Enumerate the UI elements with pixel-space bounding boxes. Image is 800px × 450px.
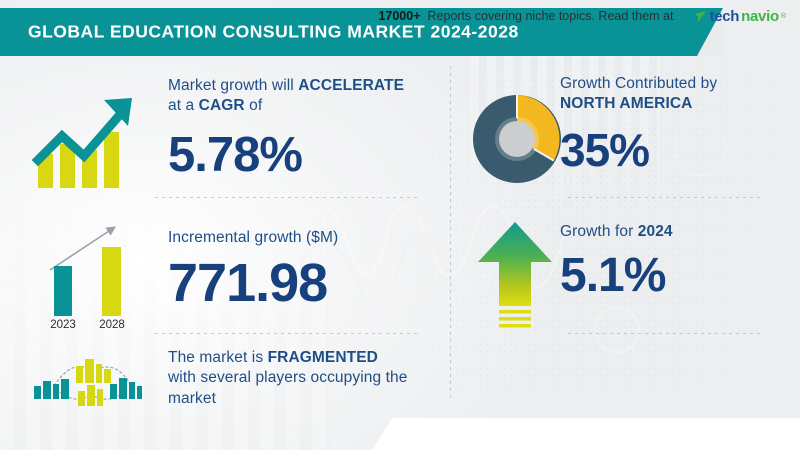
footer-text: Reports covering niche topics. Read them… [428, 9, 674, 23]
market-cluster-icon [30, 352, 144, 410]
infographic-canvas: GLOBAL EDUCATION CONSULTING MARKET 2024-… [0, 0, 800, 450]
growth-2024-caption-prefix: Growth for [560, 223, 638, 240]
cagr-caption-bold: ACCELERATE [298, 77, 404, 94]
cagr-caption-line2-prefix: at a [168, 97, 199, 114]
fragmentation-caption: The market is FRAGMENTED with several pl… [168, 348, 436, 409]
logo-text-tech: tech [709, 8, 739, 25]
growth-2024-caption: Growth for 2024 [560, 222, 795, 242]
bar-label-2023: 2023 [50, 319, 76, 330]
technavio-triangle-icon [694, 10, 707, 23]
incremental-growth-value: 771.98 [168, 256, 438, 310]
cagr-value: 5.78% [168, 131, 430, 180]
vertical-divider [450, 66, 451, 402]
incremental-growth-caption: Incremental growth ($M) [168, 228, 438, 248]
fragmentation-caption-prefix: The market is [168, 349, 268, 366]
growth-chart-icon [32, 92, 140, 192]
logo-trademark: ® [781, 13, 786, 20]
north-america-caption: Growth Contributed by NORTH AMERICA [560, 74, 795, 115]
footer-bar [0, 418, 800, 450]
stat-block-cagr: Market growth will ACCELERATE at a CAGR … [168, 76, 430, 180]
divider-left-lower [155, 333, 417, 334]
technavio-logo[interactable]: technavio® [694, 8, 786, 25]
stat-block-fragmentation: The market is FRAGMENTED with several pl… [168, 348, 436, 409]
stat-block-growth-2024: Growth for 2024 5.1% [560, 222, 795, 300]
divider-left-upper [155, 197, 417, 198]
footer-report-count: 17000+ [378, 9, 420, 23]
bar-comparison-icon: 2023 2028 [28, 218, 142, 330]
fragmentation-caption-line2: with several players occupying the [168, 369, 407, 386]
donut-chart-icon [470, 92, 564, 186]
growth-2024-value: 5.1% [560, 252, 795, 300]
north-america-value: 35% [560, 127, 795, 173]
north-america-caption-line1: Growth Contributed by [560, 75, 717, 92]
bar-label-2028: 2028 [99, 319, 125, 330]
north-america-caption-bold: NORTH AMERICA [560, 95, 692, 112]
fragmentation-caption-bold: FRAGMENTED [268, 349, 378, 366]
cagr-caption-line2-bold: CAGR [199, 97, 245, 114]
cagr-caption-line2-suffix: of [245, 97, 263, 114]
cagr-caption: Market growth will ACCELERATE at a CAGR … [168, 76, 430, 117]
stat-block-north-america: Growth Contributed by NORTH AMERICA 35% [560, 74, 795, 173]
growth-2024-caption-bold: 2024 [638, 223, 673, 240]
divider-right-lower [568, 333, 760, 334]
footer-content: 17000+ Reports covering niche topics. Re… [378, 0, 786, 32]
divider-right-upper [568, 197, 760, 198]
up-arrow-icon [474, 218, 556, 330]
logo-text-navio: navio [741, 8, 779, 25]
stat-block-incremental-growth: Incremental growth ($M) 771.98 [168, 228, 438, 310]
fragmentation-caption-line3: market [168, 390, 216, 407]
cagr-caption-prefix: Market growth will [168, 77, 298, 94]
